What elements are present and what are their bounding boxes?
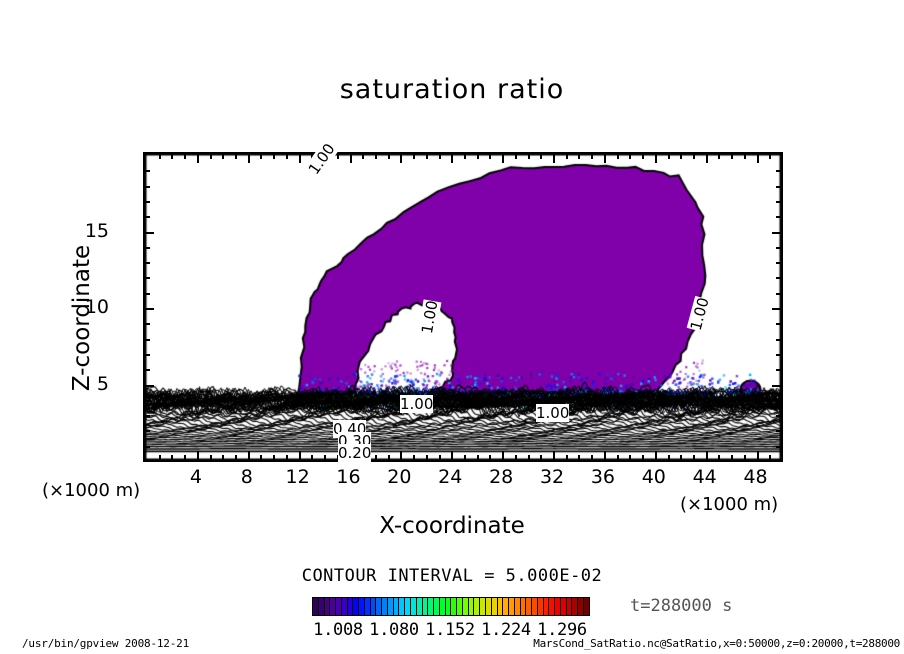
y-tick-major-right [772,385,781,387]
x-tick-minor-top [540,154,542,159]
x-tick-minor [375,455,377,460]
x-tick-minor [515,455,517,460]
contour-interval-label: CONTOUR INTERVAL = 5.000E-02 [0,566,904,586]
y-tick-major [145,232,154,234]
colorbar-tick-label: 1.152 [425,620,475,640]
x-tick-minor-top [566,154,568,159]
x-tick-major [197,451,199,460]
x-tick-minor [464,455,466,460]
x-tick-minor [260,455,262,460]
x-tick-minor-top [286,154,288,159]
x-tick-minor-top [744,154,746,159]
x-tick-major [553,451,555,460]
y-tick-minor [145,216,150,218]
x-tick-minor [693,455,695,460]
y-tick-minor [145,354,150,356]
y-tick-major-right [772,232,781,234]
colorbar-tick-label: 1.008 [313,620,363,640]
x-tick-major-top [655,154,657,163]
x-tick-label: 28 [489,466,513,488]
x-tick-label: 4 [190,466,202,488]
time-label: t=288000 s [630,596,732,616]
y-tick-minor [145,293,150,295]
x-tick-major-top [299,154,301,163]
contour-value-label: 1.00 [536,404,569,422]
x-tick-minor-top [273,154,275,159]
y-tick-minor-right [776,293,781,295]
x-tick-minor [311,455,313,460]
contour-plot-canvas [145,154,781,460]
y-tick-minor-right [776,430,781,432]
y-tick-minor-right [776,415,781,417]
x-tick-minor [184,455,186,460]
x-tick-minor [286,455,288,460]
x-tick-minor [578,455,580,460]
x-tick-major [655,451,657,460]
x-tick-minor-top [222,154,224,159]
x-tick-major-top [757,154,759,163]
x-tick-minor [273,455,275,460]
x-tick-minor [528,455,530,460]
y-tick-minor [145,400,150,402]
y-tick-minor-right [776,247,781,249]
y-tick-minor [145,369,150,371]
x-tick-minor [388,455,390,460]
x-tick-minor [591,455,593,460]
x-tick-label: 40 [642,466,666,488]
y-tick-minor-right [776,262,781,264]
x-tick-minor [731,455,733,460]
x-tick-major-top [350,154,352,163]
contour-value-label: 1.00 [400,395,433,413]
y-tick-minor [145,247,150,249]
colorbar-tick-label: 1.080 [369,620,419,640]
y-axis-title: Z-coordinate [69,198,95,438]
x-tick-major [757,451,759,460]
x-tick-minor [489,455,491,460]
y-tick-minor [145,186,150,188]
x-tick-minor-top [375,154,377,159]
y-tick-minor-right [776,170,781,172]
x-tick-minor-top [337,154,339,159]
x-unit-label-left: (×1000 m) [42,480,140,501]
x-tick-label: 16 [336,466,360,488]
x-tick-minor-top [210,154,212,159]
y-tick-minor-right [776,400,781,402]
x-tick-minor-top [528,154,530,159]
x-tick-minor [477,455,479,460]
y-tick-minor-right [776,277,781,279]
colorbar-band [584,598,589,615]
x-tick-label: 36 [591,466,615,488]
colorbar [312,597,590,616]
x-tick-major [502,451,504,460]
x-tick-minor-top [413,154,415,159]
x-tick-minor-top [489,154,491,159]
y-tick-major [145,308,154,310]
x-tick-minor-top [629,154,631,159]
x-tick-major [400,451,402,460]
x-tick-minor [668,455,670,460]
x-axis-title: X-coordinate [0,513,904,539]
x-tick-minor [629,455,631,460]
x-tick-minor-top [235,154,237,159]
x-tick-minor [235,455,237,460]
x-tick-minor [769,455,771,460]
x-tick-minor-top [617,154,619,159]
x-tick-major-top [604,154,606,163]
y-tick-major-right [772,308,781,310]
y-tick-minor [145,170,150,172]
x-tick-minor [744,455,746,460]
x-tick-minor [566,455,568,460]
x-tick-label: 48 [743,466,767,488]
x-tick-major-top [197,154,199,163]
x-tick-major-top [502,154,504,163]
y-tick-minor [145,415,150,417]
x-tick-minor-top [668,154,670,159]
y-tick-minor [145,430,150,432]
x-tick-label: 44 [693,466,717,488]
colorbar-tick-label: 1.224 [481,620,531,640]
x-tick-minor [413,455,415,460]
x-tick-minor [680,455,682,460]
x-tick-major-top [706,154,708,163]
x-tick-minor-top [159,154,161,159]
y-tick-minor [145,262,150,264]
x-tick-major-top [451,154,453,163]
y-tick-major [145,385,154,387]
x-tick-minor-top [718,154,720,159]
x-tick-minor [617,455,619,460]
footer-command-label: /usr/bin/gpview 2008-12-21 [22,637,189,650]
y-tick-minor-right [776,339,781,341]
x-tick-minor [324,455,326,460]
y-tick-minor-right [776,323,781,325]
contour-value-label: 0.20 [338,444,371,462]
y-tick-minor-right [776,201,781,203]
y-tick-minor [145,339,150,341]
footer-source-label: MarsCond_SatRatio.nc@SatRatio,x=0:50000,… [533,637,900,650]
y-tick-label: 5 [97,373,109,395]
y-tick-minor-right [776,216,781,218]
x-tick-major-top [400,154,402,163]
x-tick-major [706,451,708,460]
x-tick-minor-top [362,154,364,159]
y-tick-minor-right [776,446,781,448]
x-tick-label: 8 [241,466,253,488]
x-tick-minor-top [260,154,262,159]
y-tick-minor [145,446,150,448]
x-tick-major-top [248,154,250,163]
x-tick-major [451,451,453,460]
x-tick-minor-top [477,154,479,159]
x-tick-minor-top [642,154,644,159]
x-tick-minor [540,455,542,460]
x-tick-minor-top [578,154,580,159]
y-tick-minor-right [776,354,781,356]
x-tick-minor-top [464,154,466,159]
x-tick-minor-top [731,154,733,159]
x-tick-label: 20 [387,466,411,488]
x-tick-minor [439,455,441,460]
plot-area [143,152,783,462]
x-tick-label: 24 [438,466,462,488]
y-tick-minor [145,201,150,203]
x-tick-minor-top [439,154,441,159]
y-tick-minor [145,323,150,325]
x-tick-minor [426,455,428,460]
x-tick-major [604,451,606,460]
x-tick-minor [642,455,644,460]
x-tick-label: 12 [286,466,310,488]
x-tick-minor [210,455,212,460]
page-title: saturation ratio [0,74,904,105]
x-unit-label-right: (×1000 m) [680,494,778,515]
y-tick-minor [145,277,150,279]
x-tick-minor-top [388,154,390,159]
x-tick-minor-top [171,154,173,159]
x-tick-minor [222,455,224,460]
y-tick-minor-right [776,369,781,371]
x-tick-major [299,451,301,460]
x-tick-minor [171,455,173,460]
x-tick-major-top [553,154,555,163]
x-tick-minor-top [515,154,517,159]
x-tick-minor-top [591,154,593,159]
y-tick-minor-right [776,186,781,188]
x-tick-minor-top [769,154,771,159]
x-tick-major [248,451,250,460]
x-tick-minor-top [426,154,428,159]
x-tick-label: 32 [540,466,564,488]
x-tick-minor-top [680,154,682,159]
x-tick-minor [159,455,161,460]
x-tick-minor-top [693,154,695,159]
x-tick-minor [718,455,720,460]
x-tick-minor-top [184,154,186,159]
